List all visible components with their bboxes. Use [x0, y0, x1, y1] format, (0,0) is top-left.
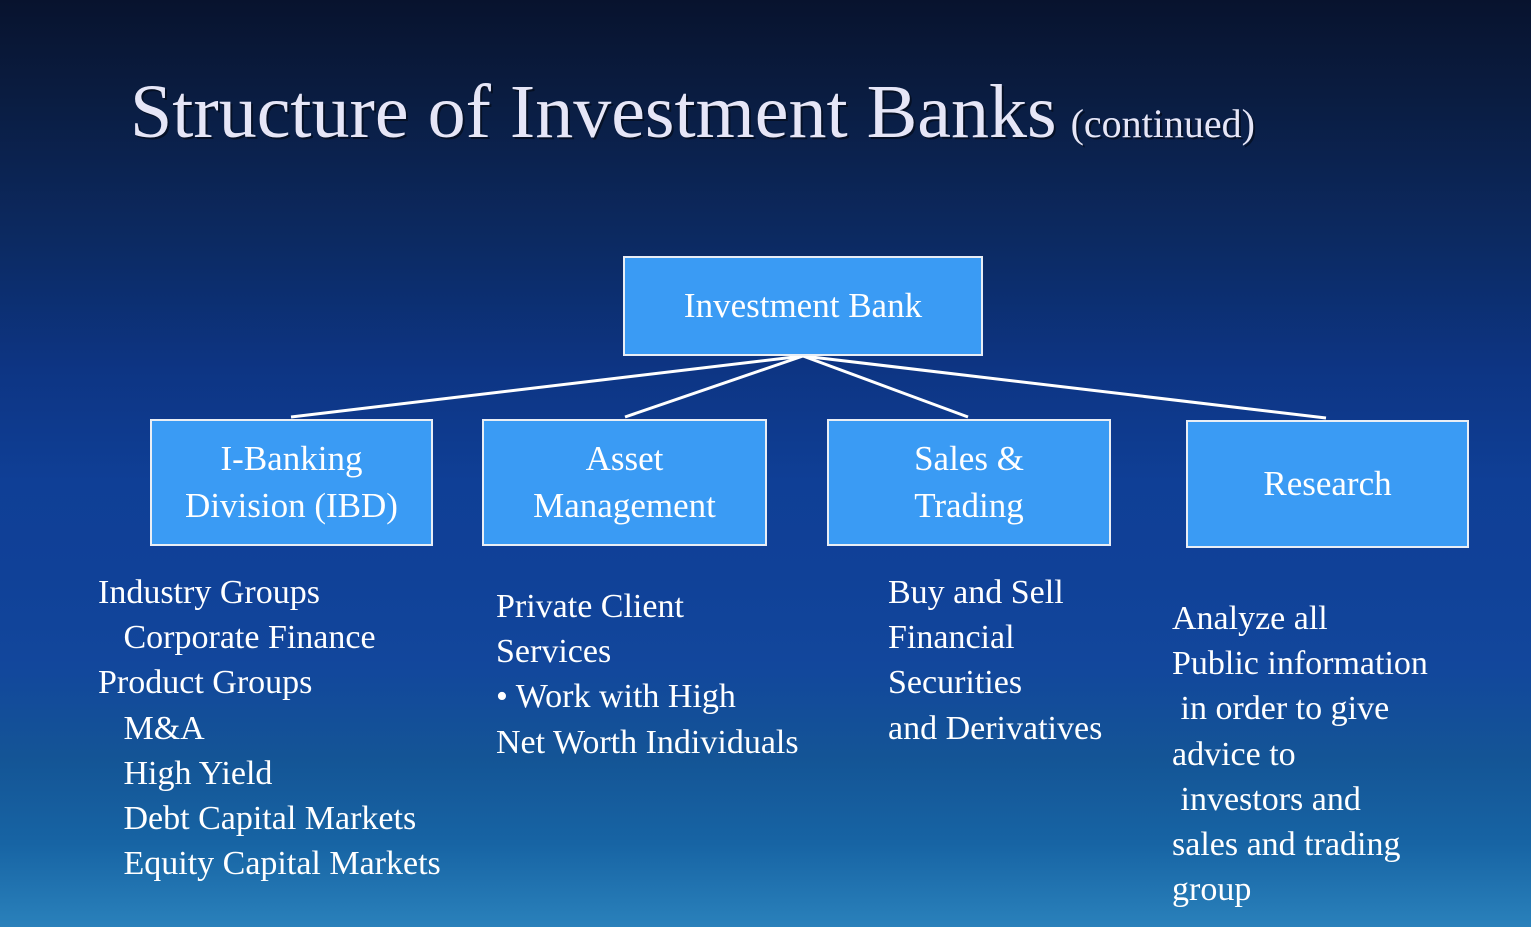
description-line: M&A — [98, 706, 441, 751]
node-asset-management-label-line2: Management — [533, 483, 716, 529]
connector-line-asset — [625, 356, 803, 417]
description-line: High Yield — [98, 751, 441, 796]
node-research[interactable]: Research — [1186, 420, 1469, 548]
node-investment-bank-label: Investment Bank — [684, 283, 922, 329]
description-research: Analyze allPublic information in order t… — [1172, 596, 1428, 913]
node-asset-management[interactable]: Asset Management — [482, 419, 767, 546]
node-sales-trading-label-line1: Sales & — [914, 436, 1024, 482]
description-line: Debt Capital Markets — [98, 796, 441, 841]
description-line: Financial — [888, 615, 1102, 660]
node-research-label-line1: Research — [1263, 461, 1391, 507]
description-sales-trading: Buy and SellFinancialSecuritiesand Deriv… — [888, 570, 1102, 751]
description-line: investors and — [1172, 777, 1428, 822]
description-line: • Work with High — [496, 674, 799, 719]
description-line: in order to give — [1172, 686, 1428, 731]
page-title-main: Structure of Investment Banks — [130, 70, 1057, 154]
description-line: and Derivatives — [888, 706, 1102, 751]
node-investment-bank[interactable]: Investment Bank — [623, 256, 983, 356]
description-ibanking-division: Industry Groups Corporate FinanceProduct… — [98, 570, 441, 887]
description-asset-management: Private ClientServices• Work with HighNe… — [496, 584, 799, 765]
connector-line-research — [803, 356, 1326, 418]
description-line: Analyze all — [1172, 596, 1428, 641]
slide-canvas: Structure of Investment Banks(continued)… — [0, 0, 1531, 927]
description-line: Buy and Sell — [888, 570, 1102, 615]
connector-line-ibd — [291, 356, 803, 417]
page-title-suffix: (continued) — [1071, 101, 1255, 146]
description-line: Industry Groups — [98, 570, 441, 615]
page-title: Structure of Investment Banks(continued) — [130, 74, 1430, 150]
description-line: Product Groups — [98, 660, 441, 705]
description-line: Corporate Finance — [98, 615, 441, 660]
description-line: Private Client — [496, 584, 799, 629]
node-sales-trading-label-line2: Trading — [914, 483, 1024, 529]
description-line: Services — [496, 629, 799, 674]
node-ibanking-division-label-line1: I-Banking — [185, 436, 398, 482]
node-ibanking-division-label-line2: Division (IBD) — [185, 483, 398, 529]
description-line: Public information — [1172, 641, 1428, 686]
description-line: Net Worth Individuals — [496, 720, 799, 765]
description-line: group — [1172, 867, 1428, 912]
connector-line-sales — [803, 356, 968, 417]
description-line: advice to — [1172, 732, 1428, 777]
description-line: Equity Capital Markets — [98, 841, 441, 886]
node-asset-management-label-line1: Asset — [533, 436, 716, 482]
description-line: Securities — [888, 660, 1102, 705]
node-sales-trading[interactable]: Sales & Trading — [827, 419, 1111, 546]
description-line: sales and trading — [1172, 822, 1428, 867]
node-ibanking-division[interactable]: I-Banking Division (IBD) — [150, 419, 433, 546]
